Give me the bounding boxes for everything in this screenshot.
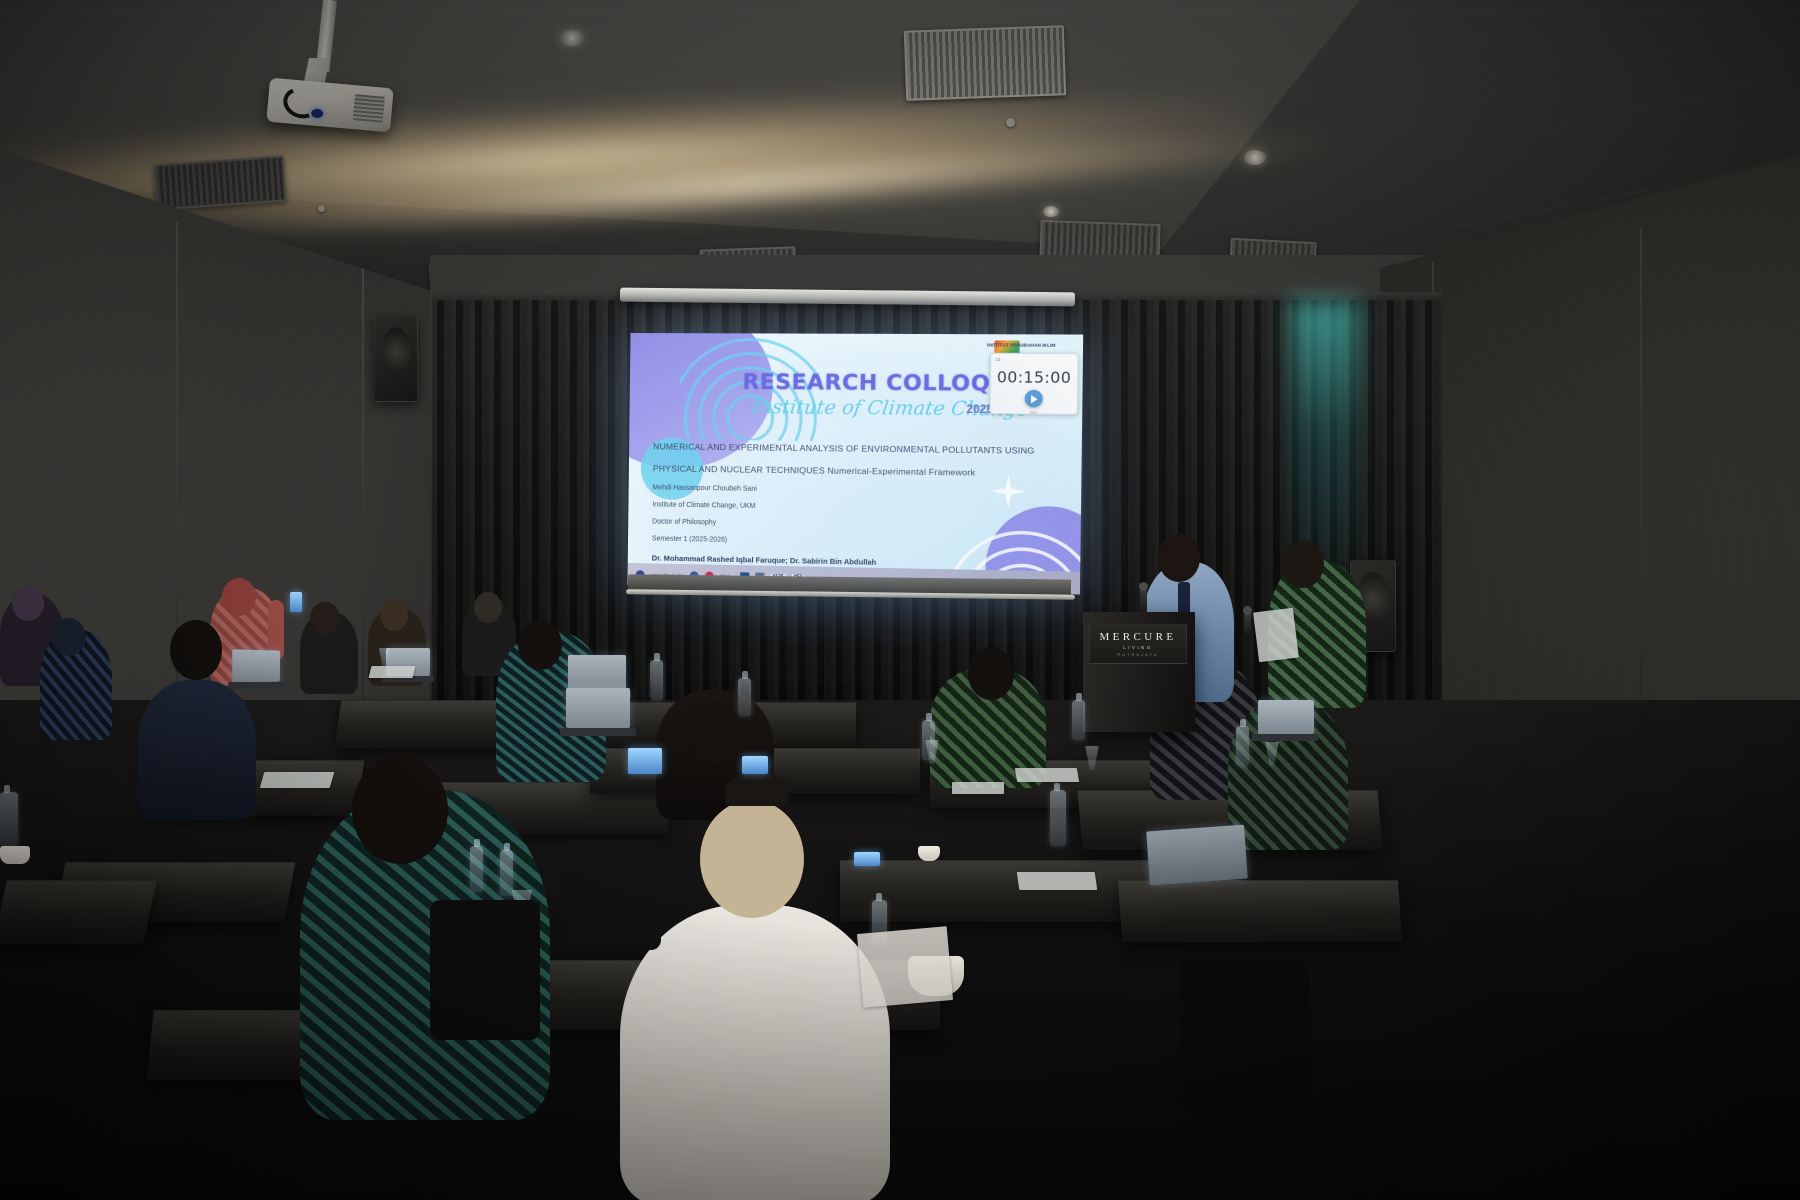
timer-button-label: start: [990, 410, 1076, 415]
audience-member-head: [170, 620, 222, 680]
slide-affiliation: Institute of Climate Change, UKM: [652, 501, 755, 510]
projection-screen: INSTITUT PERUBAHAN IKLIM RESEARCH COLLOQ…: [627, 333, 1083, 595]
presenter-notes-paper: [1253, 608, 1299, 663]
paper-document: [369, 666, 416, 678]
chair-back: [430, 900, 540, 1040]
podium: MERCURE LIVING PUTRAJAYA: [1083, 612, 1195, 732]
ceiling-vent: [154, 156, 287, 211]
wall-speaker: [374, 316, 418, 402]
phone-screen: [628, 748, 662, 774]
conference-room-scene: INSTITUT PERUBAHAN IKLIM RESEARCH COLLOQ…: [0, 0, 1800, 1200]
paper-document: [260, 772, 335, 788]
laptop-base: [1252, 734, 1318, 741]
presenter-head: [1158, 534, 1200, 582]
ceiling-downlight: [1043, 206, 1059, 217]
laptop-base: [560, 728, 636, 736]
laptop-screen: [568, 655, 626, 691]
laptop-screen: [566, 688, 630, 728]
timer-badge: 15: [995, 357, 1000, 362]
coffee-cup: [0, 846, 30, 864]
audience-member-head: [310, 602, 340, 635]
audience-member-head: [688, 700, 744, 762]
audience-member-head: [222, 578, 256, 616]
water-bottle: [0, 792, 18, 846]
laptop-base: [228, 682, 286, 689]
podium-brand-sub: LIVING: [1123, 645, 1152, 650]
audience-member-foreground: [620, 905, 890, 1200]
paper-document: [1017, 872, 1098, 890]
chair-back: [565, 840, 661, 950]
water-bottle: [738, 678, 751, 716]
presenter-head: [1282, 540, 1324, 588]
institute-mark-label: INSTITUT PERUBAHAN IKLIM: [987, 342, 1056, 348]
water-bottle: [470, 846, 483, 892]
paper-document: [1015, 768, 1079, 782]
ceiling-panel-line: [0, 14, 1800, 15]
laptop-closed: [1146, 825, 1248, 886]
water-bottle: [650, 660, 663, 700]
paper-notebook: [857, 926, 953, 1008]
slide-degree: Doctor of Philosophy: [652, 518, 716, 526]
audience-member-head: [380, 600, 408, 631]
phone-screen: [290, 592, 302, 612]
audience-member-head: [52, 618, 86, 656]
chair-back: [1180, 956, 1310, 1116]
slide-semester: Semester 1 (2025-2026): [652, 535, 727, 543]
audience-member-head: [968, 648, 1014, 700]
podium-brand-city: PUTRAJAYA: [1118, 652, 1159, 657]
laptop-screen: [232, 649, 280, 682]
fire-sprinkler: [318, 205, 325, 212]
audience-table: [1118, 880, 1402, 942]
audience-member: [138, 680, 256, 820]
audience-member-head: [518, 620, 562, 670]
hair-tie: [726, 772, 788, 806]
wall-seam: [362, 268, 364, 748]
ceiling-downlight: [1244, 150, 1266, 165]
timer-display: 00:15:00: [991, 368, 1078, 387]
podium-brand-plate: MERCURE LIVING PUTRAJAYA: [1089, 624, 1187, 664]
water-bottle: [1072, 700, 1085, 740]
phone-screen: [854, 852, 880, 866]
water-bottle: [1236, 726, 1249, 766]
microphone: [1140, 588, 1147, 614]
audience-table: [0, 880, 157, 944]
ceiling-downlight: [560, 30, 584, 46]
timer-start-button[interactable]: [1025, 390, 1043, 408]
fire-sprinkler: [1006, 118, 1015, 127]
countdown-timer-widget[interactable]: 15 00:15:00 start: [989, 353, 1078, 415]
laptop-screen: [1258, 700, 1314, 734]
presentation-slide: INSTITUT PERUBAHAN IKLIM RESEARCH COLLOQ…: [627, 333, 1083, 595]
audience-member-head: [352, 756, 448, 864]
podium-brand-name: MERCURE: [1100, 631, 1177, 643]
ceiling-vent: [904, 25, 1066, 101]
coffee-cup: [918, 846, 940, 861]
phone-screen: [742, 756, 768, 774]
audience-member-head: [700, 800, 804, 918]
microphone: [1244, 612, 1251, 634]
water-bottle: [500, 850, 513, 896]
water-bottle: [1050, 790, 1066, 846]
slide-presenter-name: Mehdi Hassanpour Choubeh Sani: [653, 484, 757, 493]
paper-document: [952, 782, 1004, 794]
audience-member-head: [12, 586, 44, 621]
audience-member-head: [474, 592, 502, 623]
